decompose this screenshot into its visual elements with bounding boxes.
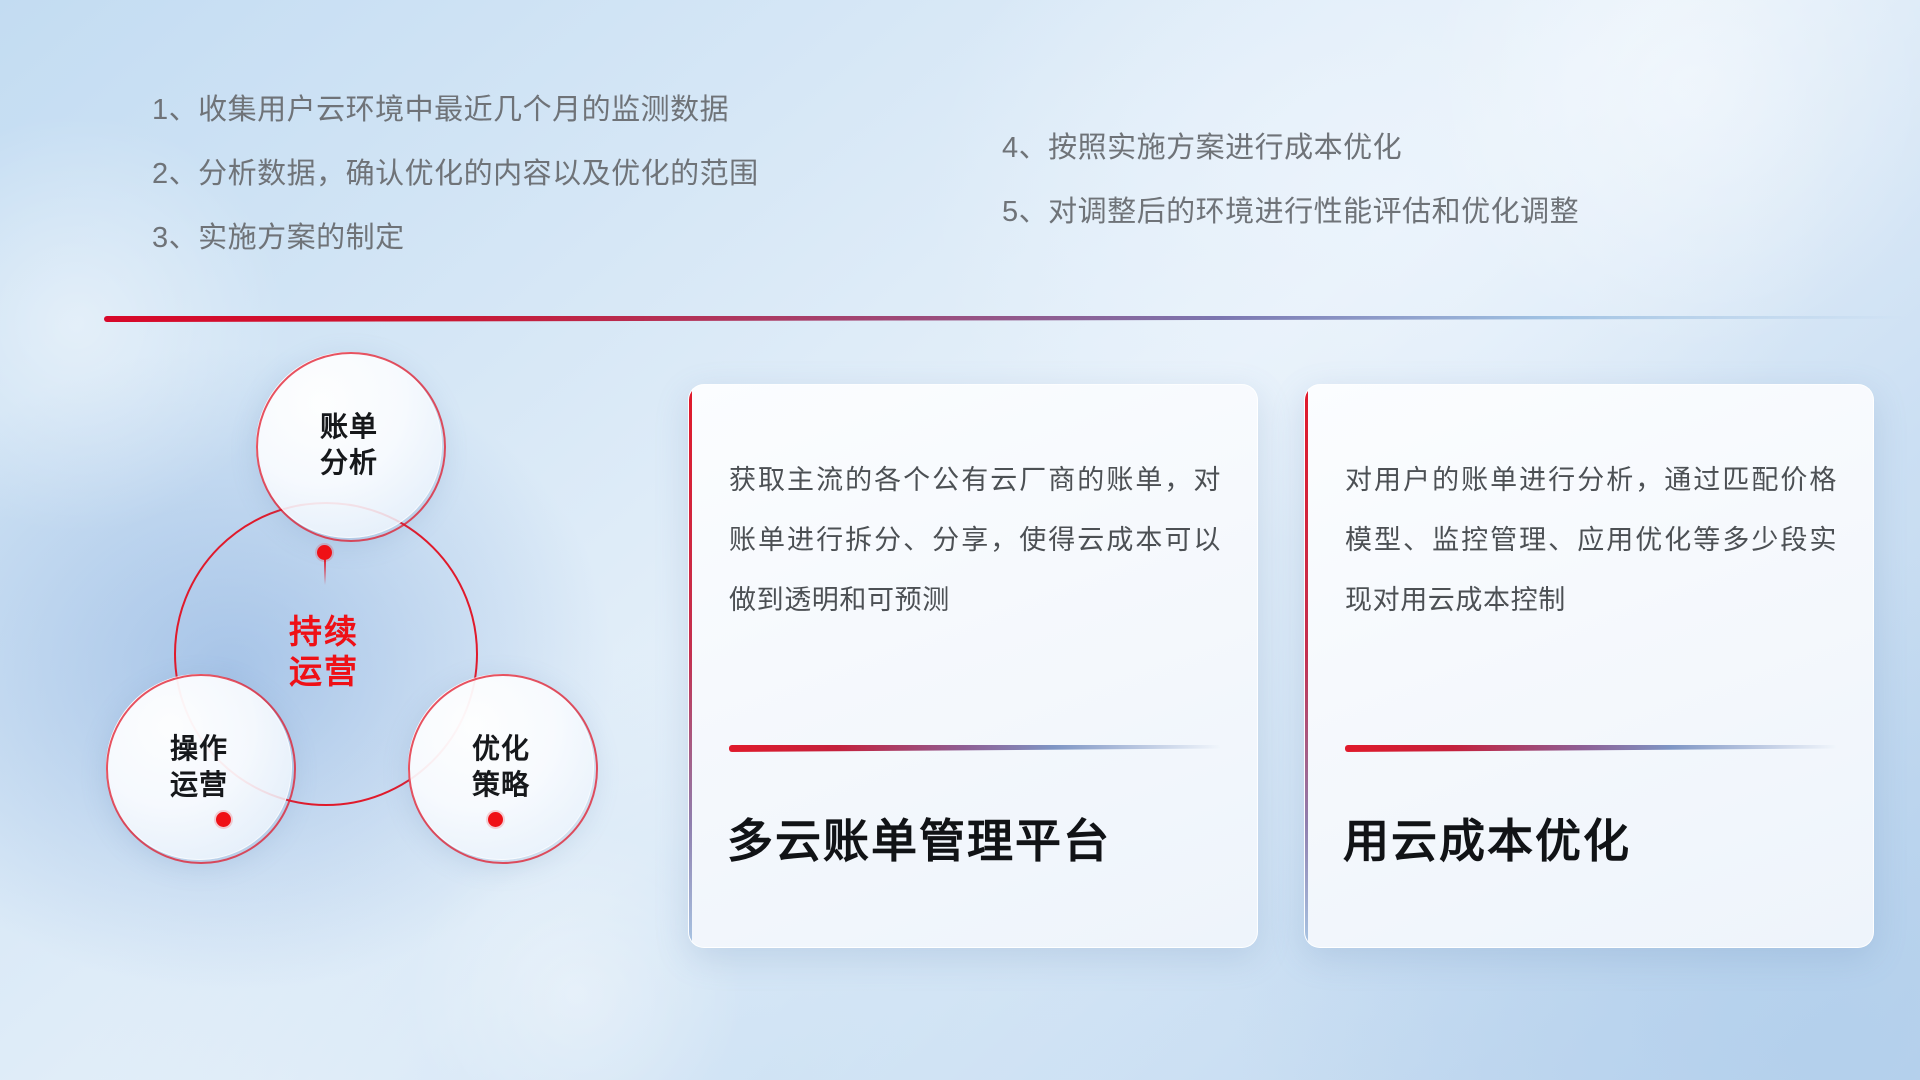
card-accent-rule <box>729 745 1221 752</box>
node-outline-bill-analysis <box>256 352 446 542</box>
card-title: 用云成本优化 <box>1343 805 1843 871</box>
node-outline-operations <box>106 674 296 864</box>
steps-section: 1、收集用户云环境中最近几个月的监测数据 2、分析数据，确认优化的内容以及优化的… <box>0 96 1920 286</box>
steps-column-right: 4、按照实施方案进行成本优化 5、对调整后的环境进行性能评估和优化调整 <box>1002 134 1579 262</box>
node-outline-optimization-strategy <box>408 674 598 864</box>
connector-dot-bottom-right <box>488 812 503 827</box>
slide-canvas: 1、收集用户云环境中最近几个月的监测数据 2、分析数据，确认优化的内容以及优化的… <box>0 0 1920 1080</box>
continuous-operation-diagram: 持续 运营 账单 分析 操作 运营 优化 策略 <box>96 352 656 952</box>
step-item-2: 2、分析数据，确认优化的内容以及优化的范围 <box>152 160 759 189</box>
steps-column-left: 1、收集用户云环境中最近几个月的监测数据 2、分析数据，确认优化的内容以及优化的… <box>152 96 759 288</box>
step-item-5: 5、对调整后的环境进行性能评估和优化调整 <box>1002 198 1579 227</box>
center-ring-label-line1: 持续 <box>289 612 359 652</box>
connector-line-top <box>324 559 326 585</box>
connector-dot-top <box>317 545 332 560</box>
step-item-1: 1、收集用户云环境中最近几个月的监测数据 <box>152 96 759 125</box>
card-body-text: 获取主流的各个公有云厂商的账单，对账单进行拆分、分享，使得云成本可以做到透明和可… <box>729 451 1221 631</box>
feature-card-multicloud-billing[interactable]: 获取主流的各个公有云厂商的账单，对账单进行拆分、分享，使得云成本可以做到透明和可… <box>688 384 1258 948</box>
step-item-4: 4、按照实施方案进行成本优化 <box>1002 134 1579 163</box>
section-divider <box>104 316 1904 322</box>
connector-dot-bottom-left <box>216 812 231 827</box>
card-title: 多云账单管理平台 <box>727 805 1227 871</box>
center-ring-label-line2: 运营 <box>289 652 359 692</box>
feature-card-cloud-cost-optimization[interactable]: 对用户的账单进行分析，通过匹配价格模型、监控管理、应用优化等多少段实现对用云成本… <box>1304 384 1874 948</box>
card-accent-rule <box>1345 745 1837 752</box>
step-item-3: 3、实施方案的制定 <box>152 224 759 253</box>
card-body-text: 对用户的账单进行分析，通过匹配价格模型、监控管理、应用优化等多少段实现对用云成本… <box>1345 451 1837 631</box>
